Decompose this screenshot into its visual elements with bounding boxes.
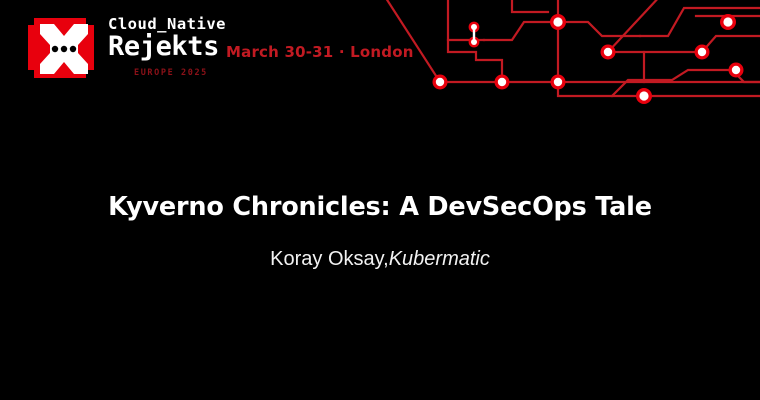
talk-title: Kyverno Chronicles: A DevSecOps Tale xyxy=(0,192,760,222)
rejekts-x-logo-icon xyxy=(26,12,102,86)
brand-line-europe-2025: EUROPE 2025 xyxy=(134,68,208,78)
presentation-slide: Cloud_Native Rejekts EUROPE 2025 March 3… xyxy=(0,0,760,400)
circuit-board-pattern-icon xyxy=(372,0,760,110)
speaker-affiliation: Kubermatic xyxy=(389,248,490,270)
brand-line-cloud-native: Cloud_Native xyxy=(108,16,226,32)
brand-wordmark: Cloud_Native Rejekts EUROPE 2025 xyxy=(108,12,226,78)
speaker-name: Koray Oksay, xyxy=(270,248,389,270)
event-date-location: March 30-31 · London xyxy=(226,43,414,61)
title-block: Kyverno Chronicles: A DevSecOps Tale Kor… xyxy=(0,192,760,271)
talk-speaker-line: Koray Oksay,Kubermatic xyxy=(0,247,760,271)
brand-line-rejekts: Rejekts xyxy=(108,33,219,61)
circuit-node-group xyxy=(433,14,744,104)
cloud-native-rejekts-brand: Cloud_Native Rejekts EUROPE 2025 xyxy=(26,12,226,86)
